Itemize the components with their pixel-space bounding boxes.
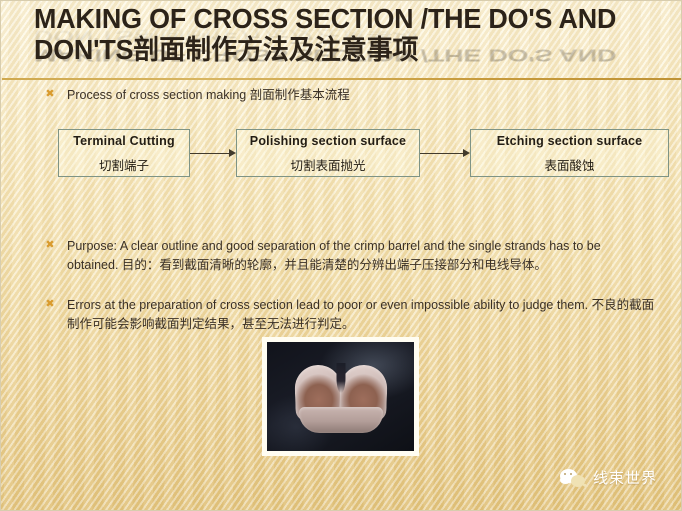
- bullet-marker-icon: ✖: [43, 296, 57, 313]
- process-arrow-2-head: [463, 149, 470, 157]
- process-step-box-3: Etching section surface 表面酸蚀: [470, 129, 669, 177]
- crimp-center-notch: [336, 363, 345, 393]
- title-divider: [2, 78, 682, 80]
- slide-canvas: MAKING OF CROSS SECTION /THE DO'S AND DO…: [0, 0, 682, 511]
- process-arrow-2-shaft: [420, 153, 463, 154]
- bullet-marker-icon: ✖: [43, 86, 57, 103]
- watermark: 线束世界: [560, 467, 657, 488]
- process-step-3-cn: 表面酸蚀: [544, 158, 594, 174]
- bullet-process: ✖ Process of cross section making 剖面制作基本…: [43, 86, 643, 105]
- bullet-process-text: Process of cross section making 剖面制作基本流程: [67, 86, 350, 105]
- wechat-bubble-large-tail: [561, 479, 567, 484]
- title-line-2: DON'TS剖面制作方法及注意事项: [34, 34, 629, 66]
- process-step-1-cn: 切割端子: [99, 158, 149, 174]
- crimp-base: [299, 407, 383, 433]
- process-step-box-2: Polishing section surface 切割表面抛光: [236, 129, 420, 177]
- title-line-1: MAKING OF CROSS SECTION /THE DO'S AND: [34, 3, 629, 34]
- wechat-bubble-small-tail: [581, 484, 586, 488]
- bullet-errors: ✖ Errors at the preparation of cross sec…: [43, 296, 655, 334]
- bullet-marker-icon: ✖: [43, 237, 57, 254]
- bullet-purpose: ✖ Purpose: A clear outline and good sepa…: [43, 237, 655, 275]
- process-step-2-en: Polishing section surface: [250, 133, 406, 149]
- process-arrow-1-head: [229, 149, 236, 157]
- process-step-3-en: Etching section surface: [497, 133, 643, 149]
- process-step-2-cn: 切割表面抛光: [290, 158, 365, 174]
- page-title: MAKING OF CROSS SECTION /THE DO'S AND DO…: [34, 3, 654, 66]
- bullet-errors-text: Errors at the preparation of cross secti…: [67, 296, 655, 334]
- cross-section-photo: [262, 337, 419, 456]
- process-arrow-2-icon: [420, 148, 470, 158]
- process-arrow-1-shaft: [190, 153, 229, 154]
- title-line-2-cn: 剖面制作方法及注意事项: [133, 35, 418, 66]
- title-line-2-en: DON'TS: [34, 34, 133, 65]
- bullet-purpose-text: Purpose: A clear outline and good separa…: [67, 237, 655, 275]
- process-step-1-en: Terminal Cutting: [73, 133, 175, 149]
- process-arrow-1-icon: [190, 148, 236, 158]
- watermark-text: 线束世界: [593, 467, 657, 488]
- process-step-box-1: Terminal Cutting 切割端子: [58, 129, 190, 177]
- cross-section-photo-image: [267, 342, 414, 451]
- crimp-barrel-shape: [295, 363, 387, 435]
- wechat-icon: [560, 468, 586, 488]
